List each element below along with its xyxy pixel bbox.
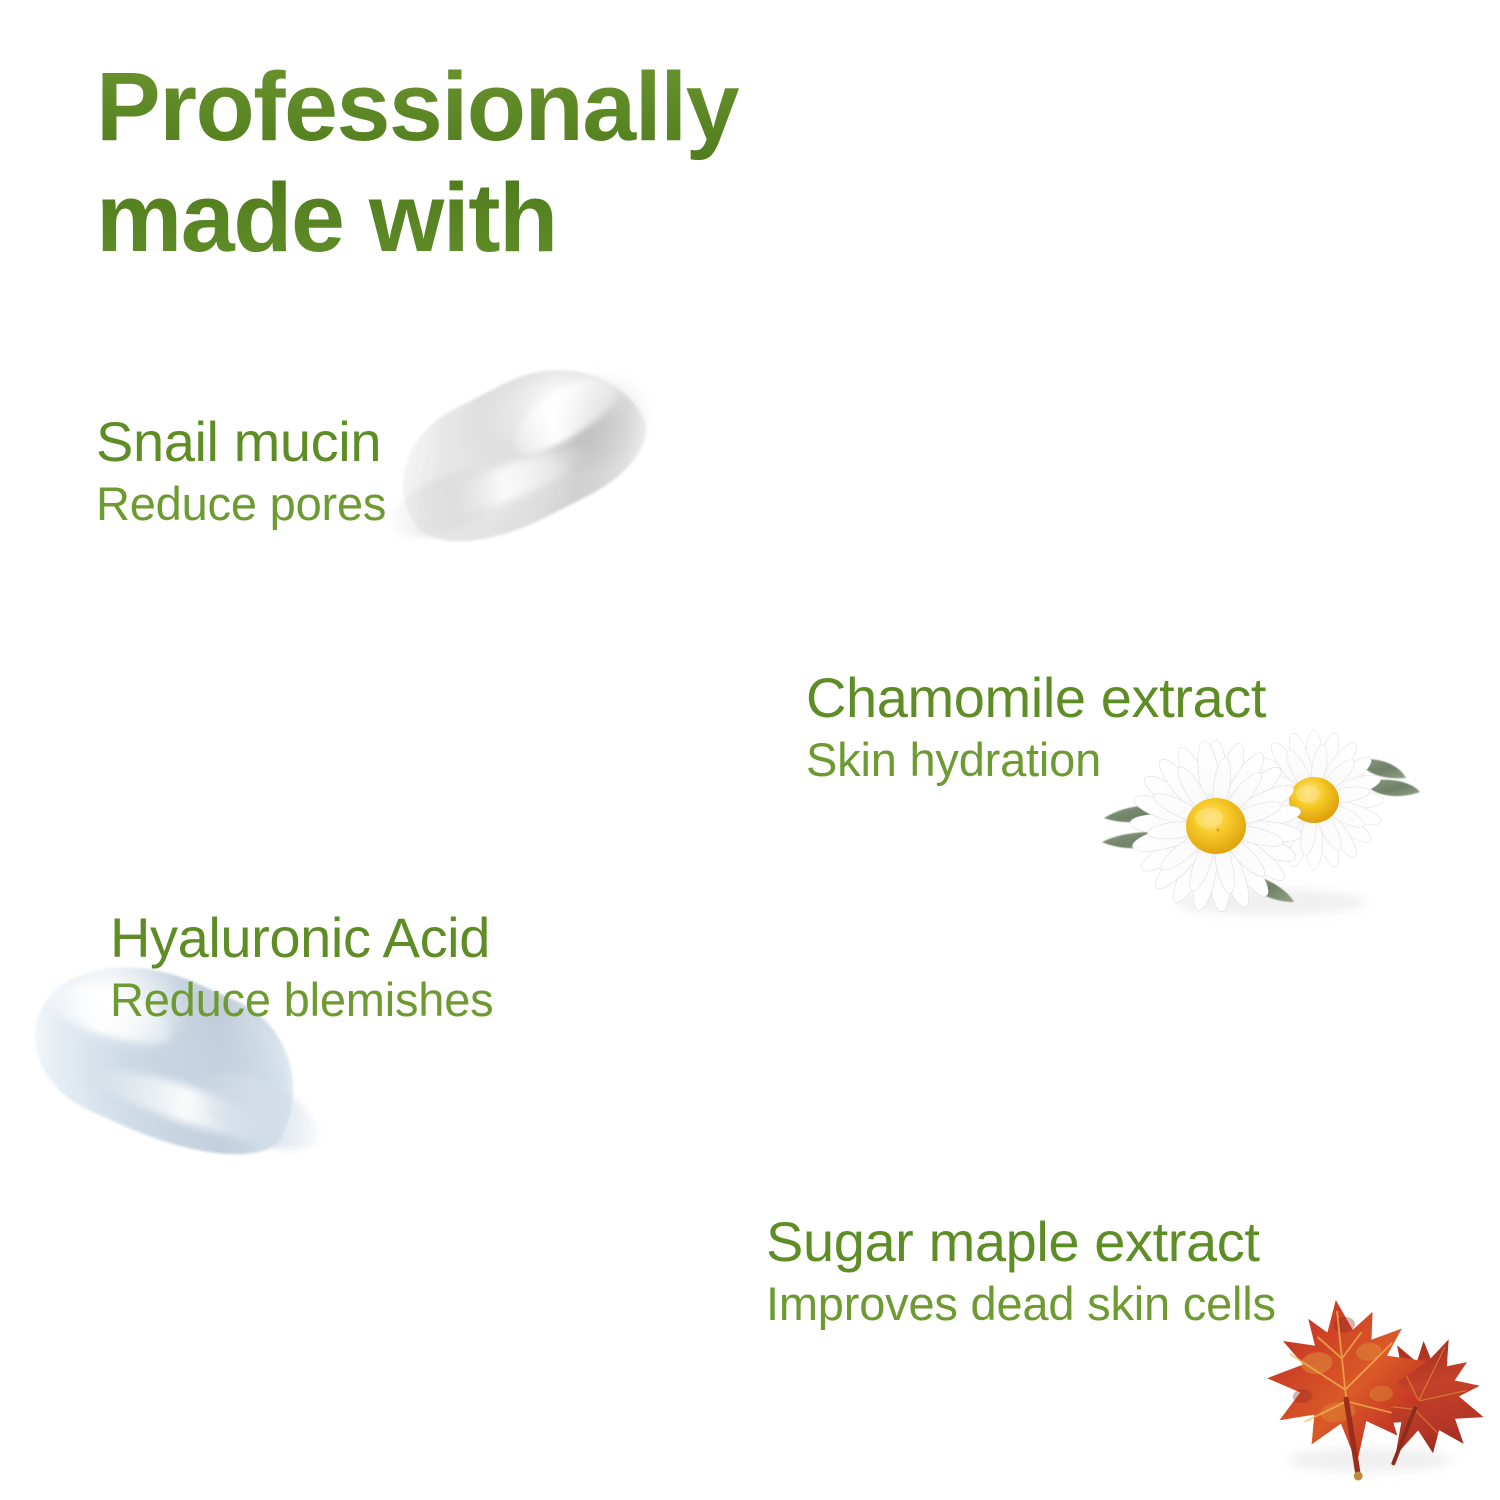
ingredient-title-hyaluronic-acid: Hyaluronic Acid [110, 908, 493, 968]
ingredient-subtitle-chamomile: Skin hydration [806, 734, 1266, 787]
ingredient-title-snail: Snail mucin [96, 412, 386, 472]
ingredient-chamomile: Chamomile extract Skin hydration [806, 668, 1266, 787]
maple-leaf-icon [1244, 1272, 1500, 1500]
ingredient-subtitle-sugar-maple: Improves dead skin cells [766, 1278, 1276, 1331]
page-title: Professionally made with [96, 52, 996, 273]
ingredient-title-chamomile: Chamomile extract [806, 668, 1266, 728]
ingredient-title-sugar-maple: Sugar maple extract [766, 1212, 1276, 1272]
ingredient-infographic: Professionally made with Snail mucin Red… [0, 0, 1500, 1500]
ingredient-hyaluronic-acid: Hyaluronic Acid Reduce blemishes [110, 908, 493, 1027]
cream-smear-icon [386, 348, 666, 578]
ingredient-subtitle-snail: Reduce pores [96, 478, 386, 531]
ingredient-subtitle-hyaluronic-acid: Reduce blemishes [110, 974, 493, 1027]
ingredient-snail: Snail mucin Reduce pores [96, 412, 386, 531]
ingredient-sugar-maple: Sugar maple extract Improves dead skin c… [766, 1212, 1276, 1331]
